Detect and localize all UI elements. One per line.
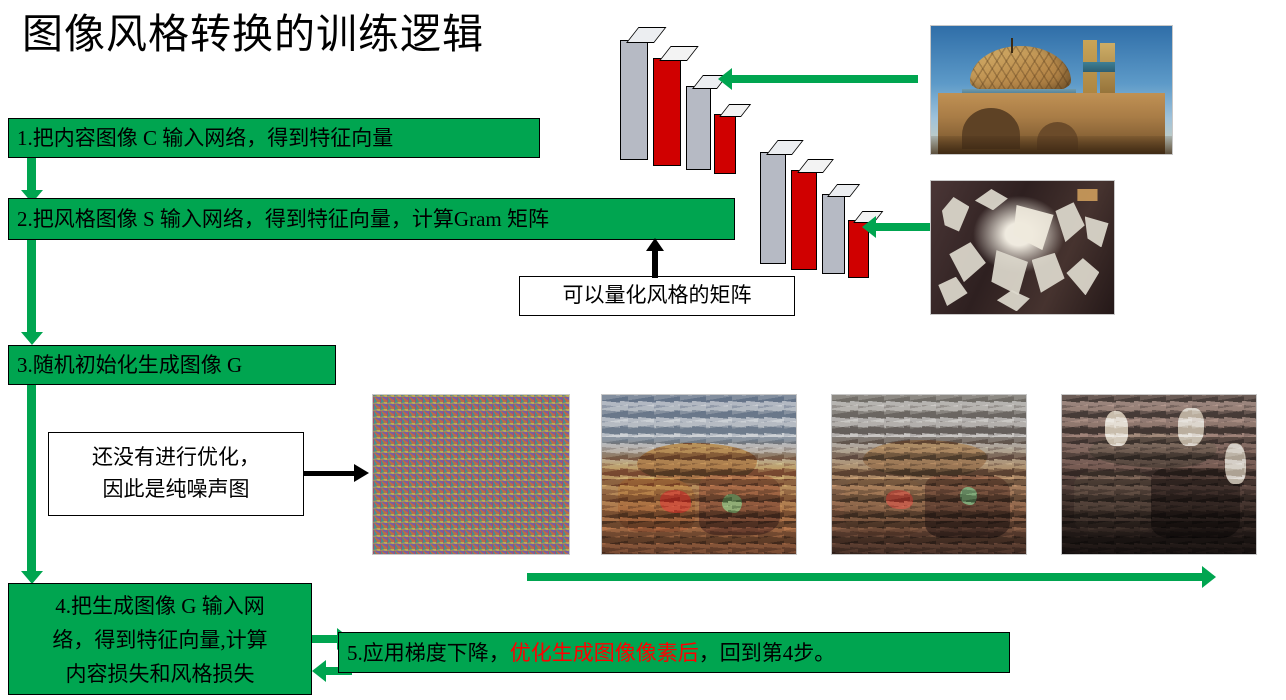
step-5-label-part1: 5.应用梯度下降，	[347, 641, 510, 665]
cnn-layer-slab	[822, 194, 845, 274]
generated-iter-2[interactable]	[831, 394, 1027, 555]
gram-note-label: 可以量化风格的矩阵	[563, 281, 752, 311]
generated-iter-1[interactable]	[601, 394, 797, 555]
generated-iter-3[interactable]	[1061, 394, 1257, 555]
gram-note-box[interactable]: 可以量化风格的矩阵	[519, 276, 795, 316]
step-4-box[interactable]: 4.把生成图像 G 输入网 络，得到特征向量,计算 内容损失和风格损失	[8, 583, 312, 695]
arrow-step3-step4	[27, 385, 36, 585]
arrow-gram-note-to-step2	[645, 238, 665, 278]
arrow-content-image-to-cnn	[718, 68, 918, 90]
step-2-box[interactable]: 2.把风格图像 S 输入网络，得到特征向量，计算Gram 矩阵	[8, 198, 735, 240]
arrow-optimization-progress	[527, 566, 1219, 588]
arrow-step2-step3	[27, 240, 36, 345]
step-1-box[interactable]: 1.把内容图像 C 输入网络，得到特征向量	[8, 118, 540, 158]
step-5-label-part2: ，回到第4步。	[699, 641, 836, 665]
noise-note-box[interactable]: 还没有进行优化， 因此是纯噪声图	[48, 432, 304, 516]
step-5-label-highlight: 优化生成图像像素后	[510, 641, 699, 665]
arrow-step1-step2	[27, 158, 36, 203]
style-image[interactable]	[930, 180, 1115, 315]
step-5-box[interactable]: 5.应用梯度下降，优化生成图像像素后，回到第4步。	[338, 632, 1010, 673]
arrow-noise-note-to-noise-image	[304, 463, 372, 483]
cnn-layer-slab	[760, 152, 786, 264]
page-title: 图像风格转换的训练逻辑	[22, 8, 484, 60]
step-4-label-line2: 络，得到特征向量,计算	[17, 623, 303, 657]
arrow-style-image-to-cnn	[862, 216, 937, 238]
content-image[interactable]	[930, 25, 1173, 155]
step-4-label-line1: 4.把生成图像 G 输入网	[17, 589, 303, 623]
step-3-label: 3.随机初始化生成图像 G	[9, 350, 335, 380]
noise-note-label-line1: 还没有进行优化，	[59, 442, 293, 474]
cnn-layer-slab	[686, 86, 711, 170]
step-2-label: 2.把风格图像 S 输入网络，得到特征向量，计算Gram 矩阵	[9, 204, 734, 234]
cnn-content	[618, 36, 738, 186]
step-3-box[interactable]: 3.随机初始化生成图像 G	[8, 345, 336, 385]
cnn-style	[758, 148, 878, 288]
cnn-layer-slab	[653, 58, 681, 166]
noise-note-label-line2: 因此是纯噪声图	[59, 474, 293, 506]
generated-noise[interactable]	[372, 394, 570, 555]
step-4-label-line3: 内容损失和风格损失	[17, 657, 303, 691]
step-1-label: 1.把内容图像 C 输入网络，得到特征向量	[9, 123, 539, 153]
cnn-layer-slab	[791, 170, 817, 270]
cnn-layer-slab	[620, 40, 648, 160]
cnn-layer-slab	[714, 114, 736, 174]
slide-canvas: 图像风格转换的训练逻辑 1.把内容图像 C 输入网络，得到特征向量 2.把风格图…	[0, 0, 1286, 700]
